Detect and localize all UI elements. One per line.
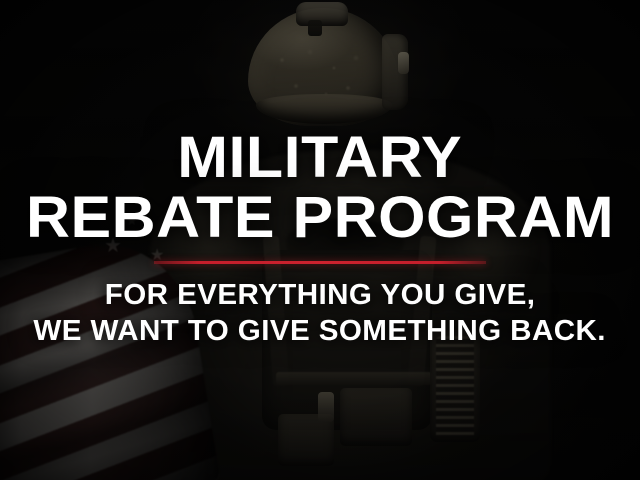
military-rebate-banner: MILITARY REBATE PROGRAM FOR EVERYTHING Y… bbox=[0, 0, 640, 480]
headline-line-2: REBATE PROGRAM bbox=[26, 190, 614, 246]
subtitle-line-1: FOR EVERYTHING YOU GIVE, bbox=[105, 280, 536, 310]
subtitle-line-2: WE WANT TO GIVE SOMETHING BACK. bbox=[34, 316, 606, 346]
headline-line-1: MILITARY bbox=[178, 130, 463, 186]
text-overlay: MILITARY REBATE PROGRAM FOR EVERYTHING Y… bbox=[0, 0, 640, 480]
red-divider bbox=[154, 261, 486, 264]
